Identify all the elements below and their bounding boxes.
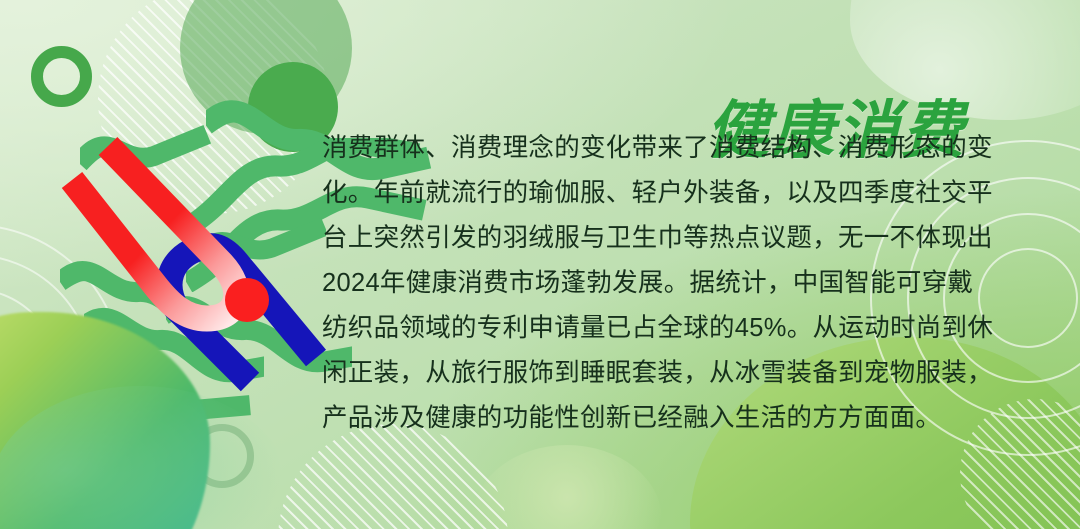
body-copy: 消费群体、消费理念的变化带来了消费结构、消费形态的变 化。年前就流行的瑜伽服、轻… [322, 126, 1006, 441]
body-line: 消费群体、消费理念的变化带来了消费结构、消费形态的变 [322, 126, 1006, 171]
dot-red [225, 278, 269, 322]
stroke-red-curve [68, 132, 328, 332]
body-line: 台上突然引发的羽绒服与卫生巾等热点议题，无一不体现出 [322, 216, 1006, 261]
body-line: 产品涉及健康的功能性创新已经融入生活的方方面面。 [322, 396, 1006, 441]
body-line: 闲正装，从旅行服饰到睡眠套装，从冰雪装备到宠物服装， [322, 351, 1006, 396]
body-line: 纺织品领域的专利申请量已占全球的45%。从运动时尚到休 [322, 306, 1006, 351]
body-line: 化。年前就流行的瑜伽服、轻户外装备，以及四季度社交平 [322, 171, 1006, 216]
body-line: 2024年健康消费市场蓬勃发展。据统计，中国智能可穿戴 [322, 261, 1006, 306]
ring-outline-green [31, 46, 92, 107]
health-consumption-poster: 健康消费 消费群体、消费理念的变化带来了消费结构、消费形态的变 化。年前就流行的… [0, 0, 1080, 529]
